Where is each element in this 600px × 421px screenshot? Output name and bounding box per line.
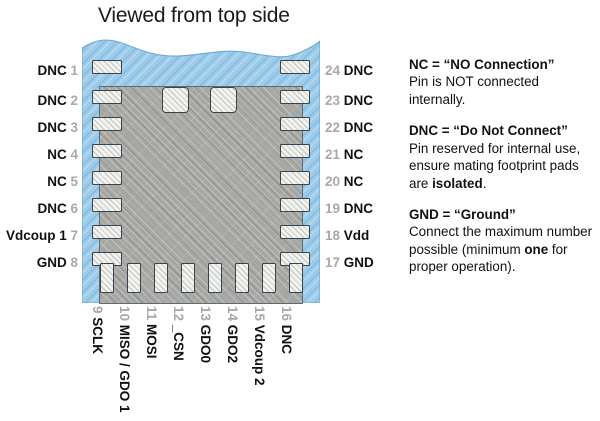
pin-label-6: DNC 6	[0, 200, 78, 218]
pin-label-20: 20 NC	[325, 173, 363, 191]
pin-number-8: 8	[70, 255, 78, 270]
pin-label-19: 19 DNC	[325, 200, 373, 218]
pad-4	[92, 144, 122, 158]
pin-number-17: 17	[325, 255, 340, 270]
pad-14	[235, 263, 249, 293]
pin-label-13-name: GDO0	[198, 325, 213, 363]
pin-number-4: 4	[70, 147, 78, 162]
pin-label-3: DNC 3	[0, 119, 78, 137]
pin-label-17: 17 GND	[325, 254, 374, 272]
pad-3	[92, 117, 122, 131]
pin-number-12: 12	[171, 306, 186, 321]
pin-label-22: 22 DNC	[325, 119, 373, 137]
pad-1	[92, 60, 122, 74]
pin-label-23-name: DNC	[344, 93, 373, 108]
pin-label-18: 18 Vdd	[325, 227, 369, 245]
pad-5	[92, 171, 122, 185]
pad-2	[92, 90, 122, 104]
pin-number-20: 20	[325, 174, 340, 189]
pin-label-10-name: MISO / GDO 1	[117, 325, 132, 413]
pad-13	[208, 263, 222, 293]
legend-dnc-heading: DNC = “Do Not Connect”	[409, 122, 597, 139]
pin-label-5-name: NC	[47, 174, 67, 189]
legend-entry-nc: NC = “NO Connection” Pin is NOT connecte…	[409, 56, 597, 108]
pin-number-19: 19	[325, 201, 340, 216]
pin-label-24-name: DNC	[344, 63, 373, 78]
pad-22	[280, 117, 310, 131]
pinout-diagram: Viewed from top side	[0, 0, 600, 421]
pin-label-20-name: NC	[344, 174, 364, 189]
pin-label-9-name: SCLK	[90, 317, 105, 354]
pin-number-10: 10	[117, 306, 132, 321]
pin-label-14-name: GDO2	[225, 325, 240, 363]
pin-label-4: NC 4	[0, 146, 78, 164]
pin-number-22: 22	[325, 120, 340, 135]
pin-label-7: Vdcoup 1 7	[0, 227, 78, 245]
pad-9	[100, 263, 114, 293]
pad-6	[92, 198, 122, 212]
pin-label-6-name: DNC	[37, 201, 66, 216]
pin-label-12: 12 _CSN	[172, 306, 186, 361]
chip-package	[82, 38, 320, 303]
pin-label-13: 13 GDO0	[199, 306, 213, 363]
pin-label-9: 9 SCLK	[91, 306, 105, 354]
pin-label-11: 11 MOSI	[145, 306, 159, 359]
legend-gnd-emphasis: one	[524, 242, 548, 257]
pin-number-24: 24	[325, 63, 340, 78]
pad-16	[289, 263, 303, 293]
pin-label-17-name: GND	[344, 255, 374, 270]
pin-label-21-name: NC	[344, 147, 364, 162]
pad-23	[280, 90, 310, 104]
pin-number-16: 16	[279, 306, 294, 321]
pin-label-15: 15 Vdcoup 2	[253, 306, 267, 386]
pin-label-21: 21 NC	[325, 146, 363, 164]
pin-number-21: 21	[325, 147, 340, 162]
legend-entry-dnc: DNC = “Do Not Connect” Pin reserved for …	[409, 122, 597, 192]
pin-label-14: 14 GDO2	[226, 306, 240, 363]
legend-nc-heading: NC = “NO Connection”	[409, 56, 597, 73]
pin-label-24: 24 DNC	[325, 62, 373, 80]
pin-label-11-name: MOSI	[144, 324, 159, 359]
pad-12	[181, 263, 195, 293]
pin-number-15: 15	[252, 306, 267, 321]
pin-label-19-name: DNC	[344, 201, 373, 216]
pin-label-3-name: DNC	[37, 120, 66, 135]
pin-number-6: 6	[70, 201, 78, 216]
pin-label-12-name: _CSN	[171, 325, 186, 361]
pin-label-1: DNC 1	[0, 62, 78, 80]
pad-24	[280, 60, 310, 74]
diagram-title: Viewed from top side	[98, 4, 290, 28]
pin-number-11: 11	[144, 306, 159, 320]
pad-20	[280, 171, 310, 185]
pad-10	[127, 263, 141, 293]
pad-11	[154, 263, 168, 293]
pin-label-16-name: DNC	[279, 325, 294, 354]
pin-number-3: 3	[70, 120, 78, 135]
pin-number-18: 18	[325, 228, 340, 243]
pin-number-13: 13	[198, 306, 213, 321]
pad-15	[262, 263, 276, 293]
pin-label-2-name: DNC	[37, 93, 66, 108]
pin-label-10: 10 MISO / GDO 1	[118, 306, 132, 413]
legend-nc-body: Pin is NOT connected internally.	[409, 74, 539, 106]
pin-label-2: DNC 2	[0, 92, 78, 110]
legend-dnc-emphasis: isolated	[432, 176, 483, 191]
thermal-pad-right	[210, 87, 237, 113]
pad-21	[280, 144, 310, 158]
pin-number-7: 7	[70, 228, 78, 243]
pin-label-18-name: Vdd	[344, 228, 370, 243]
pin-label-22-name: DNC	[344, 120, 373, 135]
pin-label-16: 16 DNC	[280, 306, 294, 354]
pin-number-9: 9	[90, 306, 105, 314]
pad-18	[280, 225, 310, 239]
pin-number-14: 14	[225, 306, 240, 321]
pin-label-1-name: DNC	[37, 63, 66, 78]
pin-label-8-name: GND	[37, 255, 67, 270]
pin-number-5: 5	[70, 174, 78, 189]
legend-panel: NC = “NO Connection” Pin is NOT connecte…	[409, 56, 597, 290]
pin-number-1: 1	[70, 63, 78, 78]
pin-label-23: 23 DNC	[325, 92, 373, 110]
legend-dnc-body-tail: .	[483, 176, 487, 191]
pin-number-23: 23	[325, 93, 340, 108]
legend-gnd-heading: GND = “Ground”	[409, 206, 597, 223]
pin-label-15-name: Vdcoup 2	[252, 325, 267, 386]
pad-7	[92, 225, 122, 239]
thermal-pad-left	[162, 87, 189, 113]
pin-label-4-name: NC	[47, 147, 67, 162]
pin-label-5: NC 5	[0, 173, 78, 191]
pin-label-8: GND 8	[0, 254, 78, 272]
pin-label-7-name: Vdcoup 1	[6, 228, 67, 243]
legend-entry-gnd: GND = “Ground” Connect the maximum numbe…	[409, 206, 597, 276]
pin-number-2: 2	[70, 93, 78, 108]
pad-19	[280, 198, 310, 212]
